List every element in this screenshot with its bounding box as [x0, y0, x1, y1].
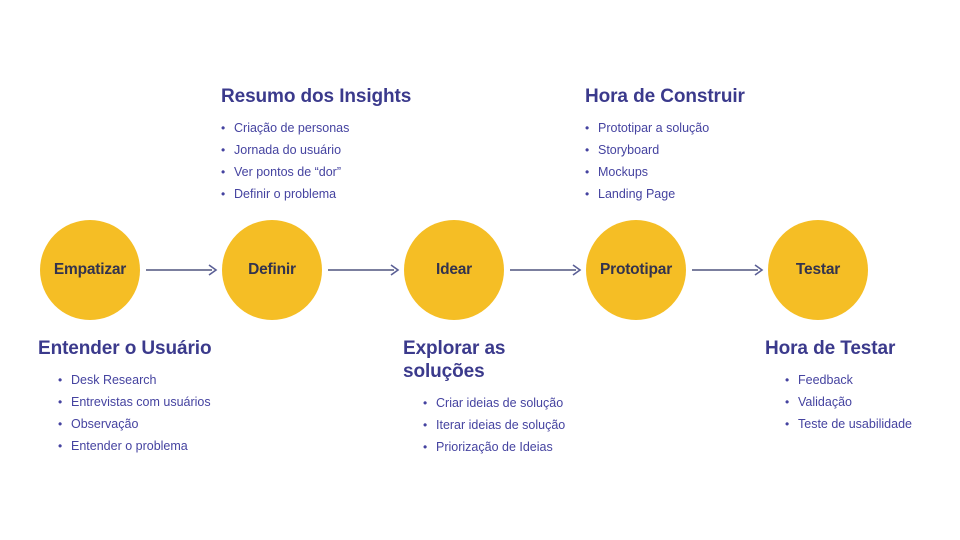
list-item: Entender o problema — [58, 435, 211, 457]
list-item: Definir o problema — [221, 183, 411, 205]
list-item: Feedback — [785, 369, 912, 391]
block-heading: Entender o Usuário — [38, 337, 211, 360]
bullet-list: Desk Research Entrevistas com usuários O… — [58, 369, 211, 457]
list-item: Teste de usabilidade — [785, 413, 912, 435]
text-block-entender-o-usuario: Entender o Usuário Desk Research Entrevi… — [38, 337, 211, 457]
list-item: Iterar ideias de solução — [423, 414, 565, 436]
text-block-hora-de-testar: Hora de Testar Feedback Validação Teste … — [765, 337, 912, 435]
list-item: Criação de personas — [221, 117, 411, 139]
stage-circle-prototipar[interactable]: Prototipar — [586, 220, 686, 320]
block-heading: Explorar as soluções — [403, 337, 565, 383]
list-item: Landing Page — [585, 183, 745, 205]
text-block-explorar-as-solucoes: Explorar as soluções Criar ideias de sol… — [403, 337, 565, 458]
block-heading: Hora de Testar — [765, 337, 912, 360]
flow-arrow-3 — [510, 263, 582, 277]
bullet-list: Criar ideias de solução Iterar ideias de… — [423, 392, 565, 458]
stage-label: Idear — [436, 261, 472, 279]
stage-label: Empatizar — [54, 261, 126, 279]
list-item: Entrevistas com usuários — [58, 391, 211, 413]
list-item: Priorização de Ideias — [423, 436, 565, 458]
flow-arrow-2 — [328, 263, 400, 277]
stage-label: Definir — [248, 261, 296, 279]
list-item: Criar ideias de solução — [423, 392, 565, 414]
block-heading: Hora de Construir — [585, 85, 745, 108]
list-item: Jornada do usuário — [221, 139, 411, 161]
list-item: Validação — [785, 391, 912, 413]
stage-circle-idear[interactable]: Idear — [404, 220, 504, 320]
text-block-resumo-dos-insights: Resumo dos Insights Criação de personas … — [221, 85, 411, 205]
list-item: Storyboard — [585, 139, 745, 161]
stage-label: Testar — [796, 261, 840, 279]
bullet-list: Feedback Validação Teste de usabilidade — [785, 369, 912, 435]
flow-arrow-1 — [146, 263, 218, 277]
stage-circle-empatizar[interactable]: Empatizar — [40, 220, 140, 320]
text-block-hora-de-construir: Hora de Construir Prototipar a solução S… — [585, 85, 745, 205]
design-thinking-diagram: Resumo dos Insights Criação de personas … — [0, 0, 960, 540]
list-item: Mockups — [585, 161, 745, 183]
block-heading: Resumo dos Insights — [221, 85, 411, 108]
list-item: Ver pontos de “dor” — [221, 161, 411, 183]
list-item: Desk Research — [58, 369, 211, 391]
stage-circle-testar[interactable]: Testar — [768, 220, 868, 320]
stage-circle-definir[interactable]: Definir — [222, 220, 322, 320]
bullet-list: Criação de personas Jornada do usuário V… — [221, 117, 411, 205]
stage-label: Prototipar — [600, 261, 672, 279]
bullet-list: Prototipar a solução Storyboard Mockups … — [585, 117, 745, 205]
list-item: Observação — [58, 413, 211, 435]
flow-arrow-4 — [692, 263, 764, 277]
list-item: Prototipar a solução — [585, 117, 745, 139]
